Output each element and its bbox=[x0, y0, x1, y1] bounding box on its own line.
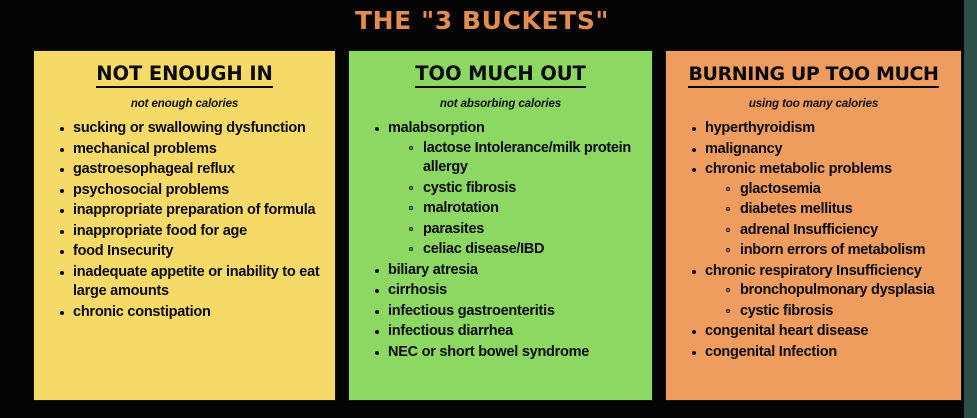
poster-canvas: THE "3 BUCKETS" NOT ENOUGH IN not enough… bbox=[0, 0, 977, 418]
sublist-item-label: cystic fibrosis bbox=[423, 180, 516, 196]
list-item-label: chronic respiratory Insufficiency bbox=[705, 262, 951, 282]
sublist: glactosemia diabetes mellitus adrenal In… bbox=[705, 180, 951, 261]
sublist-item: malrotation bbox=[407, 199, 642, 219]
list-item-label: congenital Infection bbox=[705, 343, 951, 363]
sublist-item-label: malrotation bbox=[423, 200, 499, 216]
right-edge-strip bbox=[964, 0, 977, 418]
sublist-item: celiac disease/IBD bbox=[407, 240, 642, 260]
bucket-list-not-enough-in: sucking or swallowing dysfunction mechan… bbox=[44, 119, 325, 322]
sublist: lactose Intolerance/milk protein allergy… bbox=[388, 139, 642, 260]
buckets-row: NOT ENOUGH IN not enough calories suckin… bbox=[33, 50, 962, 401]
bucket-header-too-much-out: TOO MUCH OUT bbox=[359, 62, 642, 86]
list-item-label: gastroesophageal reflux bbox=[73, 160, 325, 180]
list-item: psychosocial problems bbox=[58, 181, 325, 201]
sublist-item: adrenal Insufficiency bbox=[724, 221, 951, 241]
sublist-item: cystic fibrosis bbox=[407, 179, 642, 199]
bucket-subtitle-burning-up-too-much: using too many calories bbox=[676, 98, 951, 110]
bucket-card-not-enough-in: NOT ENOUGH IN not enough calories suckin… bbox=[33, 50, 336, 401]
list-item: hyperthyroidism bbox=[690, 119, 951, 139]
sublist-item: bronchopulmonary dysplasia bbox=[724, 281, 951, 301]
list-item: food Insecurity bbox=[58, 242, 325, 262]
list-item: congenital Infection bbox=[690, 343, 951, 363]
list-item-label: malignancy bbox=[705, 140, 951, 160]
sublist-item-label: bronchopulmonary dysplasia bbox=[740, 282, 934, 298]
bucket-header-not-enough-in: NOT ENOUGH IN bbox=[44, 62, 325, 86]
list-item-label: sucking or swallowing dysfunction bbox=[73, 119, 325, 139]
sublist-item-label: adrenal Insufficiency bbox=[740, 222, 878, 238]
list-item-label: mechanical problems bbox=[73, 140, 325, 160]
list-item-label: chronic metabolic problems bbox=[705, 160, 951, 180]
list-item: chronic respiratory Insufficiency bronch… bbox=[690, 262, 951, 322]
sublist-item: lactose Intolerance/milk protein allergy bbox=[407, 139, 642, 178]
list-item: gastroesophageal reflux bbox=[58, 160, 325, 180]
list-item-label: congenital heart disease bbox=[705, 322, 951, 342]
bucket-card-burning-up-too-much: BURNING UP TOO MUCH using too many calor… bbox=[665, 50, 962, 401]
list-item-label: infectious gastroenteritis bbox=[388, 302, 642, 322]
bucket-header-text: NOT ENOUGH IN bbox=[96, 62, 272, 88]
bucket-card-too-much-out: TOO MUCH OUT not absorbing calories mala… bbox=[348, 50, 653, 401]
list-item-label: infectious diarrhea bbox=[388, 322, 642, 342]
bucket-header-text: TOO MUCH OUT bbox=[415, 62, 585, 88]
list-item-label: inadequate appetite or inability to eat … bbox=[73, 263, 325, 302]
list-item: inappropriate food for age bbox=[58, 222, 325, 242]
list-item: mechanical problems bbox=[58, 140, 325, 160]
sublist-item: diabetes mellitus bbox=[724, 200, 951, 220]
list-item: chronic metabolic problems glactosemia d… bbox=[690, 160, 951, 261]
list-item: malabsorption lactose Intolerance/milk p… bbox=[373, 119, 642, 260]
bucket-list-too-much-out: malabsorption lactose Intolerance/milk p… bbox=[359, 119, 642, 362]
list-item: infectious gastroenteritis bbox=[373, 302, 642, 322]
list-item-label: psychosocial problems bbox=[73, 181, 325, 201]
list-item-label: biliary atresia bbox=[388, 261, 642, 281]
list-item-label: chronic constipation bbox=[73, 303, 325, 323]
list-item: NEC or short bowel syndrome bbox=[373, 343, 642, 363]
sublist-item: glactosemia bbox=[724, 180, 951, 200]
bucket-list-burning-up-too-much: hyperthyroidism malignancy chronic metab… bbox=[676, 119, 951, 362]
list-item: malignancy bbox=[690, 140, 951, 160]
list-item: chronic constipation bbox=[58, 303, 325, 323]
list-item: inadequate appetite or inability to eat … bbox=[58, 263, 325, 302]
list-item: infectious diarrhea bbox=[373, 322, 642, 342]
sublist-item-label: inborn errors of metabolism bbox=[740, 242, 925, 258]
bucket-header-text: BURNING UP TOO MUCH bbox=[688, 63, 938, 88]
sublist-item: inborn errors of metabolism bbox=[724, 241, 951, 261]
list-item-label: NEC or short bowel syndrome bbox=[388, 343, 642, 363]
list-item: biliary atresia bbox=[373, 261, 642, 281]
sublist-item-label: celiac disease/IBD bbox=[423, 241, 544, 257]
bucket-header-burning-up-too-much: BURNING UP TOO MUCH bbox=[676, 62, 951, 86]
list-item: congenital heart disease bbox=[690, 322, 951, 342]
list-item-label: cirrhosis bbox=[388, 281, 642, 301]
list-item-label: inappropriate preparation of formula bbox=[73, 201, 325, 221]
sublist-item-label: parasites bbox=[423, 221, 484, 237]
sublist: bronchopulmonary dysplasia cystic fibros… bbox=[705, 281, 951, 321]
sublist-item-label: diabetes mellitus bbox=[740, 201, 853, 217]
list-item-label: food Insecurity bbox=[73, 242, 325, 262]
sublist-item: parasites bbox=[407, 220, 642, 240]
list-item: inappropriate preparation of formula bbox=[58, 201, 325, 221]
bucket-subtitle-too-much-out: not absorbing calories bbox=[359, 98, 642, 110]
list-item-label: malabsorption bbox=[388, 119, 642, 139]
list-item: sucking or swallowing dysfunction bbox=[58, 119, 325, 139]
sublist-item-label: cystic fibrosis bbox=[740, 303, 833, 319]
page-title: THE "3 BUCKETS" bbox=[0, 4, 964, 38]
sublist-item-label: glactosemia bbox=[740, 181, 821, 197]
list-item-label: inappropriate food for age bbox=[73, 222, 325, 242]
sublist-item-label: lactose Intolerance/milk protein allergy bbox=[423, 140, 631, 176]
bucket-subtitle-not-enough-in: not enough calories bbox=[44, 98, 325, 110]
list-item-label: hyperthyroidism bbox=[705, 119, 951, 139]
list-item: cirrhosis bbox=[373, 281, 642, 301]
sublist-item: cystic fibrosis bbox=[724, 302, 951, 322]
